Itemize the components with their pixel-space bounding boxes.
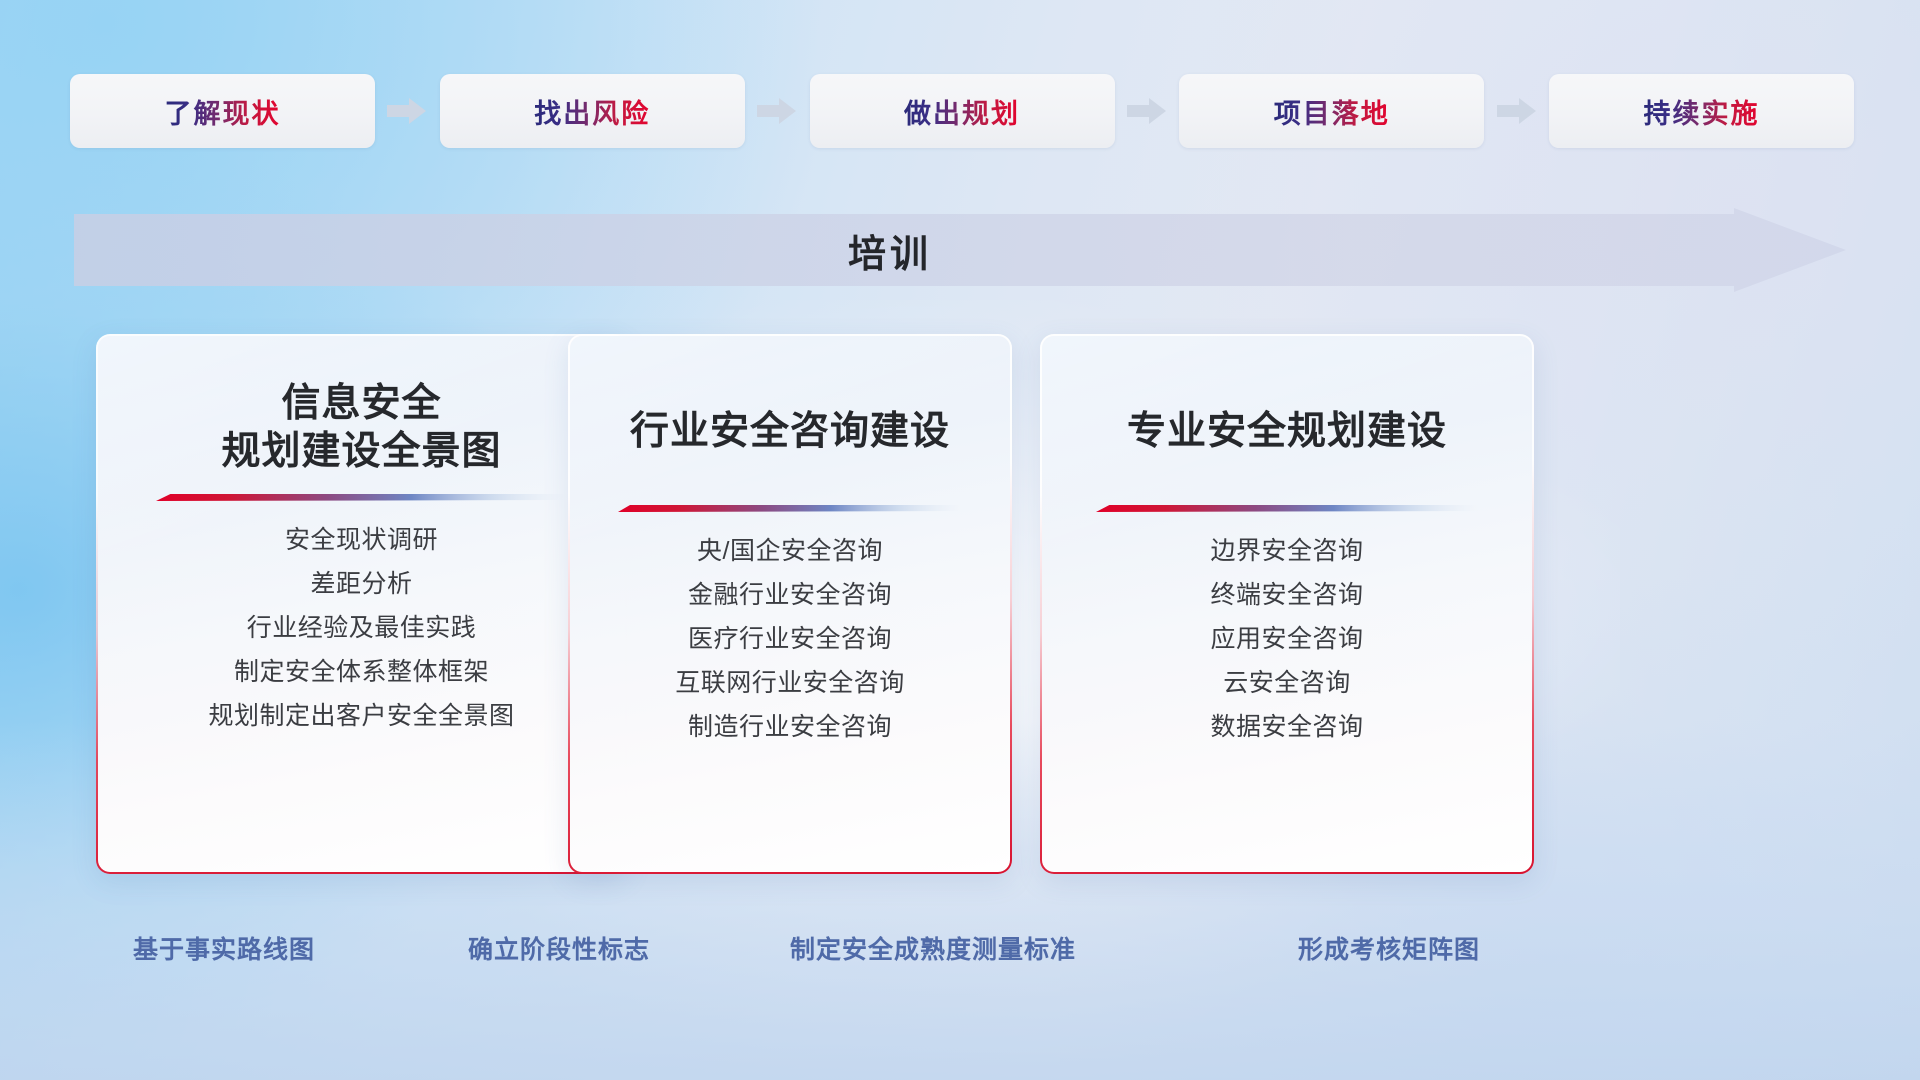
card-title-line: 专业安全规划建设: [1042, 408, 1532, 456]
list-item: 安全现状调研: [285, 528, 438, 553]
process-step-row: 了解现状 找出风险 做出规划 项目落地 持续实施: [70, 74, 1854, 148]
step-label: 做出规划: [904, 92, 1020, 131]
step-item-4[interactable]: 项目落地: [1179, 74, 1484, 148]
slide-canvas: 了解现状 找出风险 做出规划 项目落地 持续实施: [0, 0, 1920, 1080]
chevron-right-arrow-icon: [387, 96, 427, 126]
step-item-5[interactable]: 持续实施: [1549, 74, 1854, 148]
chevron-right-arrow-icon: [1127, 96, 1167, 126]
caption-milestone: 确立阶段性标志: [468, 930, 650, 966]
card-info-security-panorama[interactable]: 信息安全 规划建设全景图: [96, 334, 627, 874]
list-item: 规划制定出客户安全全景图: [208, 704, 514, 729]
gradient-divider-icon: [1096, 504, 1478, 513]
card-item-list: 央/国企安全咨询 金融行业安全咨询 医疗行业安全咨询 互联网行业安全咨询 制造行…: [570, 539, 1010, 740]
gradient-divider-icon: [618, 504, 961, 513]
list-item: 制定安全体系整体框架: [234, 660, 489, 685]
list-item: 边界安全咨询: [1210, 539, 1363, 564]
card-industry-security-consulting[interactable]: 行业安全咨询建设: [568, 334, 1012, 874]
chevron-right-arrow-icon: [757, 96, 797, 126]
caption-matrix: 形成考核矩阵图: [1298, 930, 1480, 966]
training-band: 培训: [74, 208, 1846, 292]
step-item-2[interactable]: 找出风险: [440, 74, 745, 148]
list-item: 行业经验及最佳实践: [247, 616, 477, 641]
list-item: 差距分析: [310, 572, 412, 597]
step-label: 了解现状: [165, 92, 281, 131]
caption-row: 基于事实路线图 确立阶段性标志 制定安全成熟度测量标准 形成考核矩阵图: [0, 930, 1920, 980]
list-item: 云安全咨询: [1223, 671, 1351, 696]
card-item-list: 边界安全咨询 终端安全咨询 应用安全咨询 云安全咨询 数据安全咨询: [1042, 539, 1532, 740]
list-item: 数据安全咨询: [1210, 715, 1363, 740]
card-title-line: 信息安全: [98, 380, 625, 428]
card-title-line: 行业安全咨询建设: [570, 408, 1010, 456]
list-item: 央/国企安全咨询: [697, 539, 883, 564]
card-title: 行业安全咨询建设: [570, 408, 1010, 456]
list-item: 医疗行业安全咨询: [688, 627, 892, 652]
card-row: 信息安全 规划建设全景图: [0, 334, 1920, 874]
step-label: 找出风险: [534, 92, 650, 131]
step-item-1[interactable]: 了解现状: [70, 74, 375, 148]
card-professional-security-planning[interactable]: 专业安全规划建设: [1040, 334, 1534, 874]
caption-maturity: 制定安全成熟度测量标准: [790, 930, 1076, 966]
list-item: 互联网行业安全咨询: [675, 671, 905, 696]
card-title: 信息安全 规划建设全景图: [98, 380, 625, 475]
card-title-line: 规划建设全景图: [98, 428, 625, 476]
chevron-right-arrow-icon: [1497, 96, 1537, 126]
gradient-divider-icon: [156, 493, 567, 502]
step-item-3[interactable]: 做出规划: [810, 74, 1115, 148]
caption-roadmap: 基于事实路线图: [133, 930, 315, 966]
step-label: 项目落地: [1274, 92, 1390, 131]
list-item: 金融行业安全咨询: [688, 583, 892, 608]
list-item: 制造行业安全咨询: [688, 715, 892, 740]
step-label: 持续实施: [1644, 92, 1760, 131]
list-item: 终端安全咨询: [1210, 583, 1363, 608]
card-item-list: 安全现状调研 差距分析 行业经验及最佳实践 制定安全体系整体框架 规划制定出客户…: [98, 528, 625, 729]
training-band-label: 培训: [74, 208, 1846, 292]
card-title: 专业安全规划建设: [1042, 408, 1532, 456]
list-item: 应用安全咨询: [1210, 627, 1363, 652]
